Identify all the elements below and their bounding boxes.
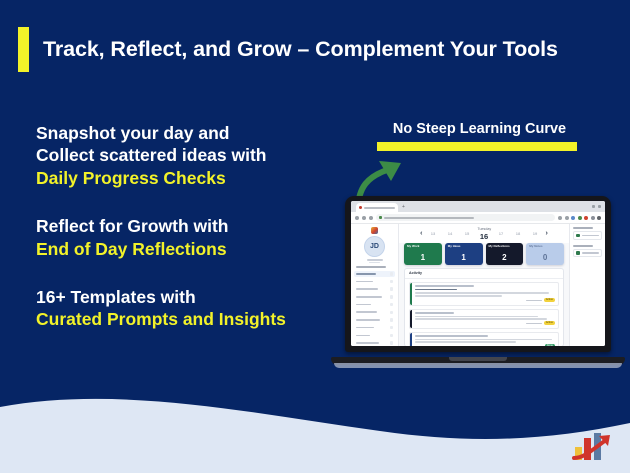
maximize-icon[interactable]	[598, 205, 601, 208]
app-sidebar: JD	[351, 224, 399, 346]
stat-card-title: My Work	[407, 245, 439, 248]
activity-panel-title: Activity	[405, 269, 563, 279]
avatar-name	[367, 259, 383, 261]
stat-card[interactable]: My Notes 0	[526, 243, 564, 265]
plus-icon[interactable]: +	[402, 205, 407, 210]
callout-text: No Steep Learning Curve	[377, 122, 582, 138]
laptop-lid: +	[345, 196, 611, 352]
footer-wave	[0, 383, 630, 473]
chevron-right-icon[interactable]: ›	[546, 230, 548, 237]
status-badge: Active	[544, 321, 555, 325]
right-panel-button[interactable]	[573, 231, 602, 240]
feature-item: Reflect for Growth with End of Day Refle…	[36, 215, 336, 260]
entry-footer: Done	[415, 344, 555, 346]
browser-tab-bar: +	[351, 201, 605, 212]
stat-card[interactable]: My Ideas 1	[445, 243, 483, 265]
right-panel-heading	[573, 227, 593, 229]
right-panel	[573, 227, 602, 240]
feature-highlight: End of Day Reflections	[36, 238, 336, 260]
forward-arrow-icon[interactable]	[362, 216, 366, 220]
right-panel-heading	[573, 245, 593, 247]
url-input[interactable]	[376, 214, 555, 221]
stat-card-value: 0	[529, 254, 561, 262]
stat-card-title: My Notes	[529, 245, 561, 248]
entry-footer: Active	[415, 298, 555, 302]
entry-meta	[415, 285, 474, 287]
page-title: Track, Reflect, and Grow – Complement Yo…	[18, 27, 558, 72]
date-navigator: ‹ 13 14 15	[399, 224, 569, 243]
feed-entry[interactable]: Active	[409, 309, 559, 329]
entry-footer: Active	[415, 321, 555, 325]
status-badge: Done	[545, 344, 555, 346]
browser-address-bar	[351, 212, 605, 224]
date-cell[interactable]: 15	[461, 232, 474, 237]
app-main: ‹ 13 14 15	[399, 224, 569, 346]
date-cell[interactable]: 14	[444, 232, 457, 237]
right-panel-button-label	[582, 252, 600, 254]
stat-card[interactable]: My Reflections 2	[486, 243, 524, 265]
sidebar-item[interactable]	[354, 309, 395, 316]
laptop-mockup: +	[331, 196, 625, 371]
date-number: 14	[448, 231, 452, 236]
laptop-screen: +	[351, 201, 605, 346]
date-cell-selected[interactable]: Tuesday 16	[478, 227, 491, 241]
minimize-icon[interactable]	[592, 205, 595, 208]
url-text	[384, 217, 474, 219]
extension-icon[interactable]	[571, 216, 575, 220]
sidebar-item[interactable]	[354, 340, 395, 346]
right-panel-button[interactable]	[573, 249, 602, 258]
window-controls[interactable]	[592, 205, 601, 208]
chevron-left-icon[interactable]: ‹	[420, 230, 422, 237]
brand-logo-icon	[354, 227, 395, 234]
extension-icon[interactable]	[565, 216, 569, 220]
sidebar-item[interactable]	[354, 294, 395, 301]
feature-line: Reflect for Growth with	[36, 215, 336, 237]
activity-panel: Activity Active	[404, 268, 564, 346]
laptop-base-lip	[334, 363, 622, 368]
sidebar-item[interactable]	[354, 317, 395, 324]
slide-root: Track, Reflect, and Grow – Complement Yo…	[0, 0, 630, 473]
feature-list: Snapshot your day and Collect scattered …	[36, 122, 336, 331]
date-number: 19	[533, 231, 537, 236]
feature-highlight: Daily Progress Checks	[36, 167, 336, 189]
avatar[interactable]: JD	[364, 236, 385, 257]
page-title-text: Track, Reflect, and Grow – Complement Yo…	[43, 39, 558, 61]
date-number: 13	[431, 231, 435, 236]
feature-highlight: Curated Prompts and Insights	[36, 308, 336, 330]
extension-icons[interactable]	[558, 216, 601, 220]
lock-icon	[379, 216, 382, 219]
date-name: Tuesday	[478, 227, 492, 231]
app-right-rail	[569, 224, 605, 346]
stat-card-title: My Ideas	[448, 245, 480, 248]
bar-chart-growth-logo-icon	[572, 428, 616, 464]
date-cell[interactable]: 17	[495, 232, 508, 237]
stat-cards: My Work 1 My Ideas 1 My Reflections 2	[399, 243, 569, 268]
avatar-subtitle	[369, 262, 380, 264]
date-number: 17	[499, 231, 503, 236]
feature-item: Snapshot your day and Collect scattered …	[36, 122, 336, 189]
status-badge: Active	[544, 298, 555, 302]
extension-icon[interactable]	[578, 216, 582, 220]
browser-tab[interactable]	[356, 203, 398, 212]
app-window: JD	[351, 224, 605, 346]
back-arrow-icon[interactable]	[355, 216, 359, 220]
sidebar-item[interactable]	[354, 324, 395, 331]
profile-icon[interactable]	[591, 216, 595, 220]
date-cell[interactable]: 18	[512, 232, 525, 237]
extension-icon[interactable]	[558, 216, 562, 220]
feature-line: Collect scattered ideas with	[36, 144, 336, 166]
stat-card-value: 2	[489, 254, 521, 262]
date-cell[interactable]: 19	[529, 232, 542, 237]
date-number: 18	[516, 231, 520, 236]
feature-item: 16+ Templates with Curated Prompts and I…	[36, 286, 336, 331]
sidebar-section-label	[356, 266, 386, 268]
space-icon	[576, 234, 580, 238]
date-cell[interactable]: 13	[427, 232, 440, 237]
stat-card-title: My Reflections	[489, 245, 521, 248]
sidebar-item[interactable]	[354, 278, 395, 285]
sidebar-item[interactable]	[354, 332, 395, 339]
activity-feed: Active Active	[405, 279, 563, 346]
date-number: 15	[465, 231, 469, 236]
callout-underline-bar	[377, 142, 577, 151]
extension-icon[interactable]	[584, 216, 588, 220]
favicon-icon	[359, 206, 362, 209]
sidebar-item[interactable]	[354, 301, 395, 308]
feed-entry[interactable]: Done	[409, 332, 559, 346]
stat-card-value: 1	[407, 254, 439, 262]
feed-entry[interactable]: Active	[409, 282, 559, 306]
laptop-trackpad-notch	[449, 357, 507, 361]
sidebar-item[interactable]	[354, 271, 395, 278]
stat-card[interactable]: My Work 1	[404, 243, 442, 265]
menu-icon[interactable]	[597, 216, 601, 220]
feature-line: Snapshot your day and	[36, 122, 336, 144]
feature-line: 16+ Templates with	[36, 286, 336, 308]
callout: No Steep Learning Curve	[377, 122, 582, 151]
right-panel-button-label	[582, 235, 600, 237]
date-number: 16	[480, 232, 488, 241]
sidebar-item[interactable]	[354, 286, 395, 293]
right-panel	[573, 245, 602, 258]
reload-icon[interactable]	[369, 216, 373, 220]
team-icon	[576, 251, 580, 255]
stat-card-value: 1	[448, 254, 480, 262]
browser-tab-title	[364, 207, 395, 209]
entry-title	[415, 289, 457, 291]
title-accent-bar	[18, 27, 29, 72]
